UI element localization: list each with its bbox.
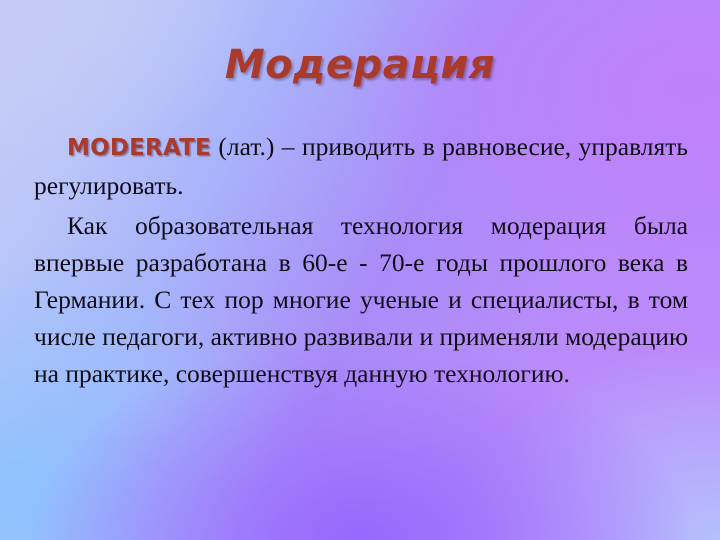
slide-content: Модерация MODERATE (лат.) – приводить в … (0, 0, 720, 540)
slide-body: MODERATE (лат.) – приводить в равновесие… (34, 128, 688, 392)
paragraph-definition: MODERATE (лат.) – приводить в равновесие… (34, 128, 688, 204)
term-moderate: MODERATE (67, 135, 211, 161)
paragraph-history: Как образовательная технология модерация… (34, 207, 688, 392)
presentation-slide: Модерация MODERATE (лат.) – приводить в … (0, 0, 720, 540)
page-title: Модерация (0, 42, 720, 88)
